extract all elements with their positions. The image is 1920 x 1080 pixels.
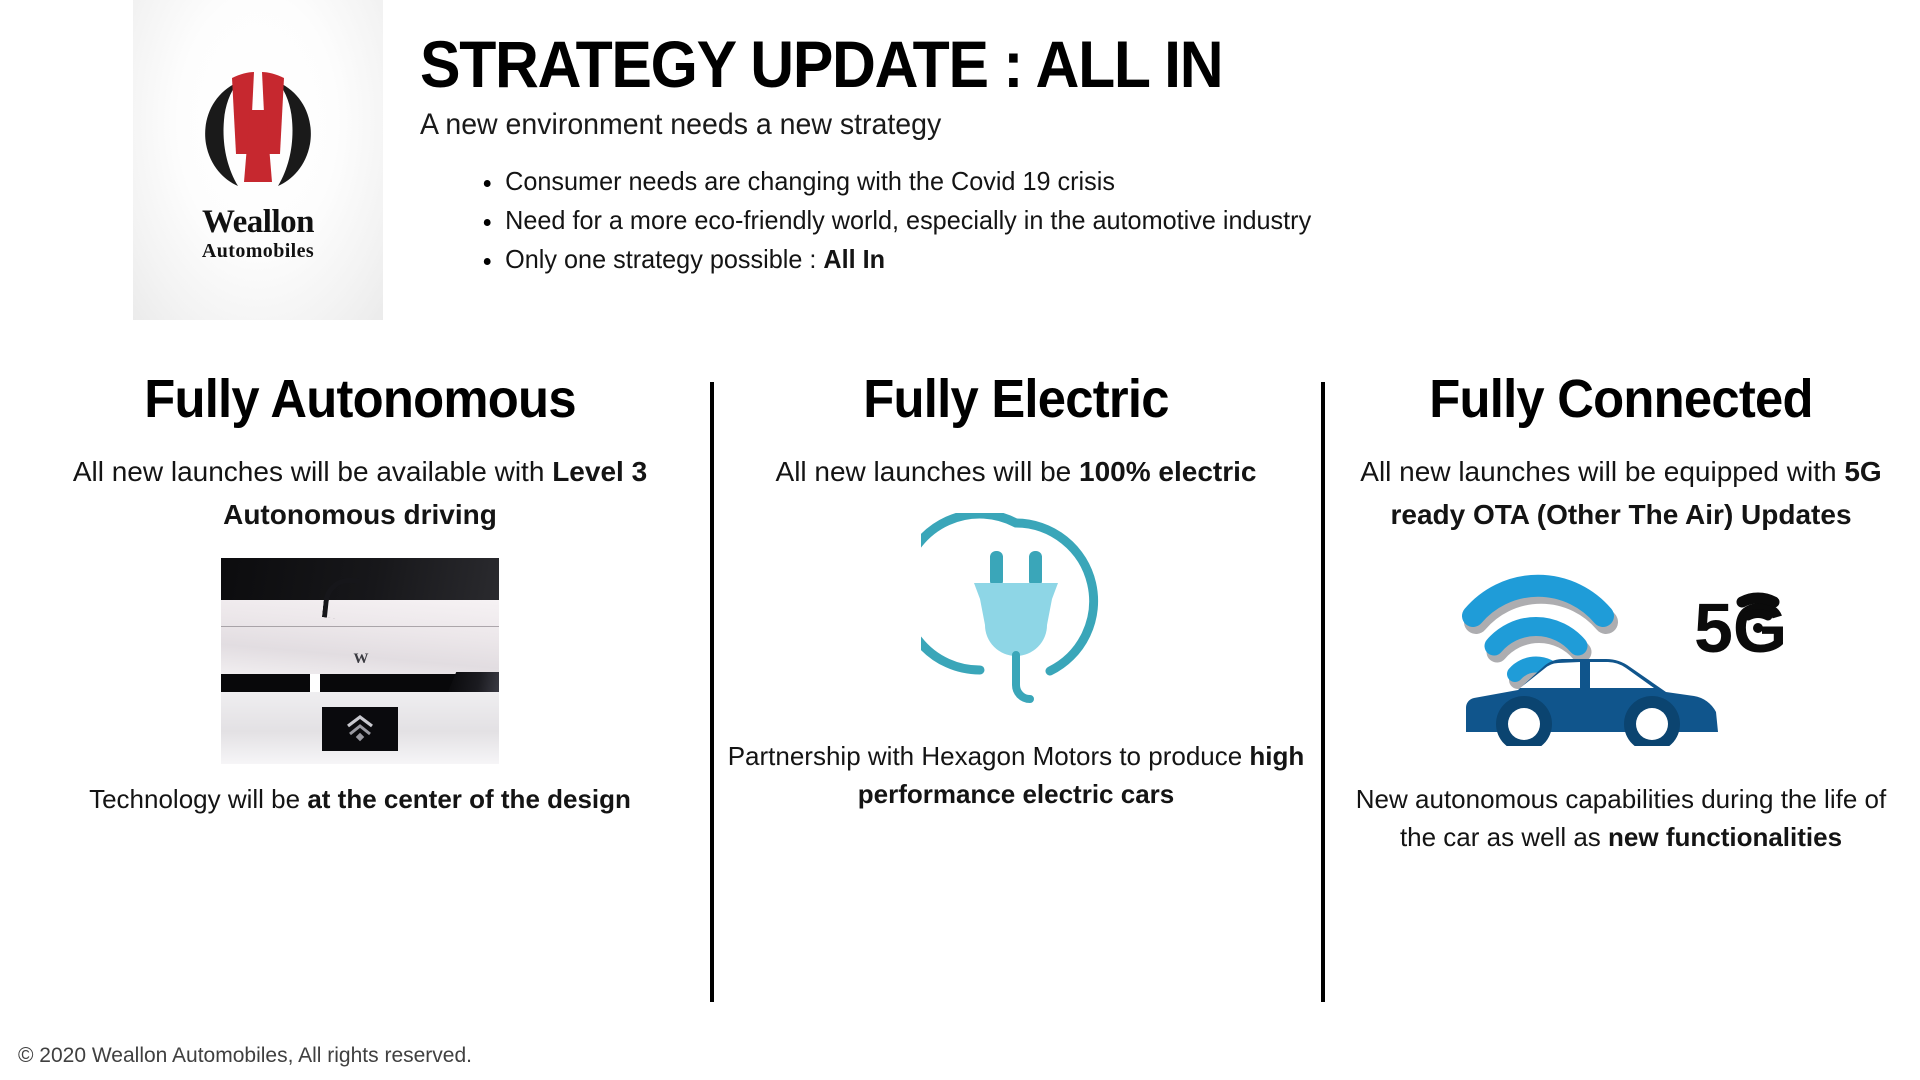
- page-subtitle: A new environment needs a new strategy: [420, 108, 941, 142]
- pillar-lead: All new launches will be 100% electric: [726, 450, 1306, 493]
- pillar-artwork: 5G: [1336, 550, 1906, 780]
- pillar-footnote-plain: Partnership with Hexagon Motors to produ…: [728, 741, 1250, 771]
- page-title: STRATEGY UPDATE : ALL IN: [420, 26, 1222, 102]
- pillar-footnote-plain: Technology will be: [89, 784, 307, 814]
- pillar-footnote-bold: new functionalities: [1608, 822, 1842, 852]
- pillar-fully-autonomous: Fully Autonomous All new launches will b…: [20, 370, 700, 818]
- lidar-sensor-icon: [322, 707, 398, 751]
- pillar-heading: Fully Autonomous: [40, 370, 679, 428]
- bullet-text: Consumer needs are changing with the Cov…: [505, 166, 1115, 196]
- brand-logo-panel: Weallon Automobiles: [133, 0, 383, 320]
- pillar-heading: Fully Connected: [1353, 370, 1889, 428]
- pillar-footnote: New autonomous capabilities during the l…: [1336, 780, 1906, 856]
- pillar-footnote-bold: at the center of the design: [307, 784, 631, 814]
- list-item: Only one strategy possible : All In: [478, 240, 1642, 279]
- pillar-fully-connected: Fully Connected All new launches will be…: [1336, 370, 1906, 856]
- header-bullet-list: Consumer needs are changing with the Cov…: [478, 162, 1678, 279]
- electric-plug-icon: [921, 513, 1111, 709]
- brand-wordmark: Weallon: [133, 205, 383, 240]
- pillar-heading: Fully Electric: [743, 370, 1288, 428]
- pillar-lead-bold: 100% electric: [1079, 456, 1256, 487]
- pillar-footnote: Technology will be at the center of the …: [20, 780, 700, 818]
- weallon-logo-icon: [192, 62, 324, 194]
- brand-subtitle: Automobiles: [133, 240, 383, 263]
- column-divider-1: [710, 382, 714, 1002]
- slide-root: Weallon Automobiles STRATEGY UPDATE : AL…: [0, 0, 1920, 1080]
- bullet-text-bold: All In: [823, 244, 885, 274]
- pillar-lead: All new launches will be equipped with 5…: [1336, 450, 1906, 536]
- pillar-columns: Fully Autonomous All new launches will b…: [0, 370, 1920, 1010]
- connected-car-5g-icon: 5G: [1456, 556, 1786, 746]
- pillar-footnote: Partnership with Hexagon Motors to produ…: [726, 737, 1306, 813]
- footer-copyright: © 2020 Weallon Automobiles, All rights r…: [18, 1044, 472, 1068]
- autonomous-car-photo-icon: W: [221, 558, 499, 764]
- pillar-lead: All new launches will be available with …: [20, 450, 700, 536]
- pillar-lead-plain: All new launches will be available with: [73, 456, 552, 487]
- column-divider-2: [1321, 382, 1325, 1002]
- pillar-lead-plain: All new launches will be equipped with: [1360, 456, 1844, 487]
- slide-header: Weallon Automobiles STRATEGY UPDATE : AL…: [0, 0, 1920, 320]
- pillar-artwork: [726, 507, 1306, 737]
- list-item: Need for a more eco-friendly world, espe…: [478, 201, 1642, 240]
- list-item: Consumer needs are changing with the Cov…: [478, 162, 1642, 201]
- pillar-lead-plain: All new launches will be: [776, 456, 1080, 487]
- bullet-text: Only one strategy possible :: [505, 244, 823, 274]
- pillar-fully-electric: Fully Electric All new launches will be …: [726, 370, 1306, 813]
- bullet-text: Need for a more eco-friendly world, espe…: [505, 205, 1311, 235]
- pillar-artwork: W: [20, 550, 700, 780]
